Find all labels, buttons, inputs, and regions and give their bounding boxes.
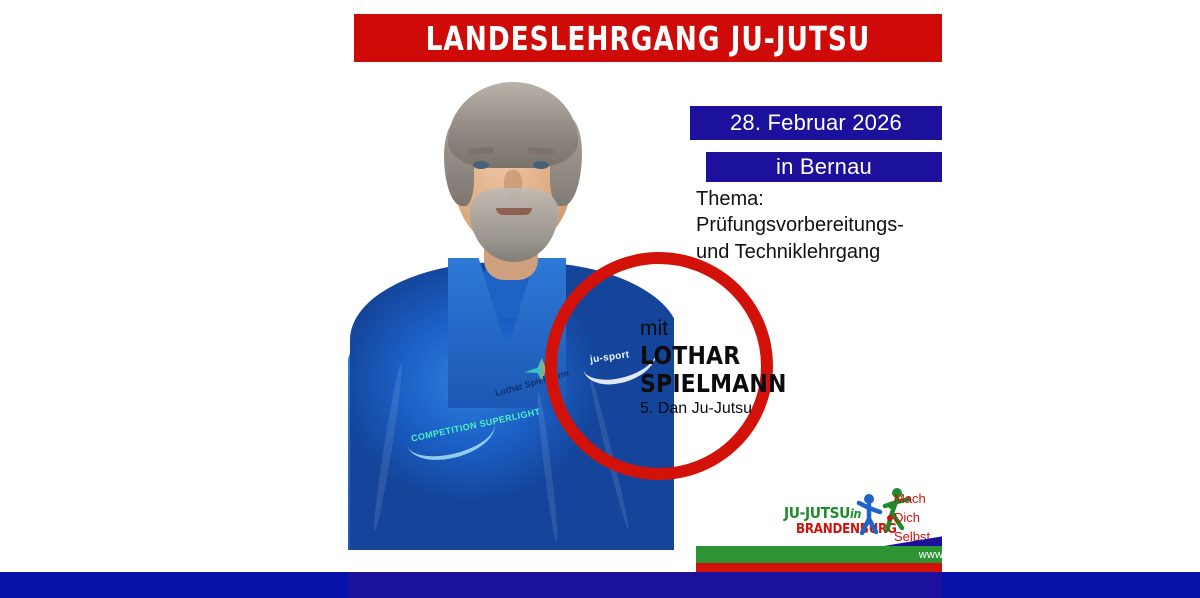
hair-top — [448, 82, 578, 168]
poster-title: LANDESLEHRGANG JU-JUTSU — [426, 22, 871, 55]
location-text: in Bernau — [776, 154, 872, 180]
bullet-dot-red-icon — [887, 515, 893, 521]
poster-page: LANDESLEHRGANG JU-JUTSU Lothar — [0, 0, 1200, 598]
footer-blue-bar-poster — [348, 572, 942, 598]
website-bar[interactable]: www.ju-jutsu-brandenburg.de — [696, 546, 942, 563]
instructor-first-name: LOTHAR — [640, 342, 787, 370]
eye-right — [533, 161, 549, 169]
date-banner: 28. Februar 2026 — [690, 106, 942, 140]
title-banner: LANDESLEHRGANG JU-JUTSU — [354, 14, 942, 62]
location-banner: in Bernau — [706, 152, 942, 182]
association-name: JU-JUTSU — [784, 504, 850, 522]
instructor-last-name: SPIELMANN — [640, 370, 787, 398]
instructor-rank: 5. Dan Ju-Jutsu — [640, 401, 807, 418]
red-accent-bar — [696, 563, 942, 572]
eye-left — [473, 161, 489, 169]
website-url: www.ju-jutsu-brandenburg.de — [919, 549, 942, 561]
poster-canvas: LANDESLEHRGANG JU-JUTSU Lothar — [348, 0, 942, 572]
theme-text: Thema: Prüfungsvorbereitungs- und Techni… — [696, 186, 904, 265]
instructor-block: mit LOTHAR SPIELMANN 5. Dan Ju-Jutsu — [640, 318, 807, 418]
mouth — [496, 208, 532, 215]
instructor-with-label: mit — [640, 318, 807, 340]
date-text: 28. Februar 2026 — [730, 110, 902, 136]
